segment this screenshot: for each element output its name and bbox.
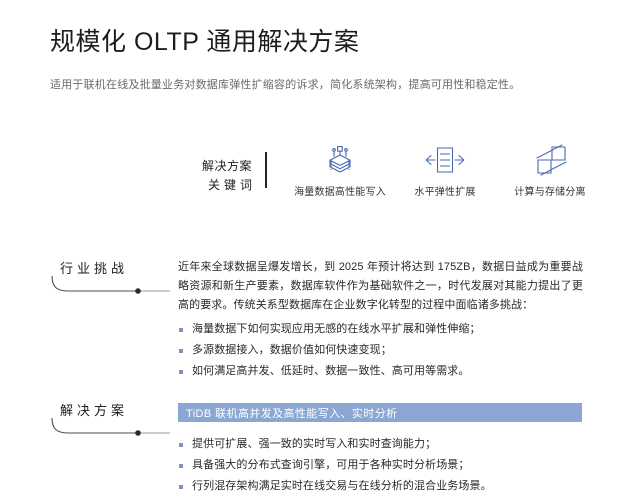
section-tag-solution: 解决方案 — [50, 400, 175, 440]
keywords-divider — [265, 152, 267, 188]
keyword-item-massive-data-write[interactable]: 海量数据高性能写入 — [290, 140, 390, 198]
industry-challenge-content: 近年来全球数据呈爆发增长，到 2025 年预计将达到 175ZB，数据日益成为重… — [178, 258, 583, 382]
keywords-label-line2: 关键词 — [190, 176, 256, 195]
keyword-label: 计算与存储分离 — [500, 183, 600, 198]
page-title: 规模化 OLTP 通用解决方案 — [50, 22, 359, 58]
solution-content: 提供可扩展、强一致的实时写入和实时查询能力； 具备强大的分布式查询引擎，可用于各… — [178, 430, 583, 497]
keywords-list: 海量数据高性能写入 水平弹性扩展 — [290, 140, 600, 198]
keywords-label-line1: 解决方案 — [202, 159, 252, 173]
keyword-label: 海量数据高性能写入 — [290, 183, 390, 198]
challenge-paragraph: 近年来全球数据呈爆发增长，到 2025 年预计将达到 175ZB，数据日益成为重… — [178, 258, 583, 315]
solution-keywords-section: 解决方案 关键词 海量数据高性能写入 — [50, 140, 595, 210]
challenge-bullet-list: 海量数据下如何实现应用无感的在线水平扩展和弹性伸缩； 多源数据接入，数据价值如何… — [178, 319, 583, 382]
keyword-item-horizontal-scaling[interactable]: 水平弹性扩展 — [395, 140, 495, 198]
list-item: 行列混存架构满足实时在线交易与在线分析的混合业务场景。 — [178, 476, 583, 497]
list-item: 具备强大的分布式查询引擎，可用于各种实时分析场景； — [178, 455, 583, 476]
list-item: 海量数据下如何实现应用无感的在线水平扩展和弹性伸缩； — [178, 319, 583, 340]
solution-bullet-list: 提供可扩展、强一致的实时写入和实时查询能力； 具备强大的分布式查询引擎，可用于各… — [178, 434, 583, 497]
section-tag-underline-decoration — [50, 416, 175, 440]
compute-storage-separation-icon — [500, 140, 600, 180]
keyword-item-compute-storage-separation[interactable]: 计算与存储分离 — [500, 140, 600, 198]
list-item: 多源数据接入，数据价值如何快速变现； — [178, 340, 583, 361]
list-item: 如何满足高并发、低延时、数据一致性、高可用等需求。 — [178, 361, 583, 382]
section-tag-underline-decoration — [50, 274, 175, 298]
keywords-label: 解决方案 关键词 — [190, 157, 252, 195]
list-item: 提供可扩展、强一致的实时写入和实时查询能力； — [178, 434, 583, 455]
solution-band-title: TiDB 联机高并发及高性能写入、实时分析 — [178, 405, 398, 421]
data-cube-icon — [290, 140, 390, 180]
section-tag-industry-challenge: 行业挑战 — [50, 258, 175, 298]
page-subtitle: 适用于联机在线及批量业务对数据库弹性扩缩容的诉求，简化系统架构，提高可用性和稳定… — [50, 76, 520, 92]
keyword-label: 水平弹性扩展 — [395, 183, 495, 198]
solution-band: TiDB 联机高并发及高性能写入、实时分析 — [178, 403, 582, 422]
horizontal-scale-icon — [395, 140, 495, 180]
